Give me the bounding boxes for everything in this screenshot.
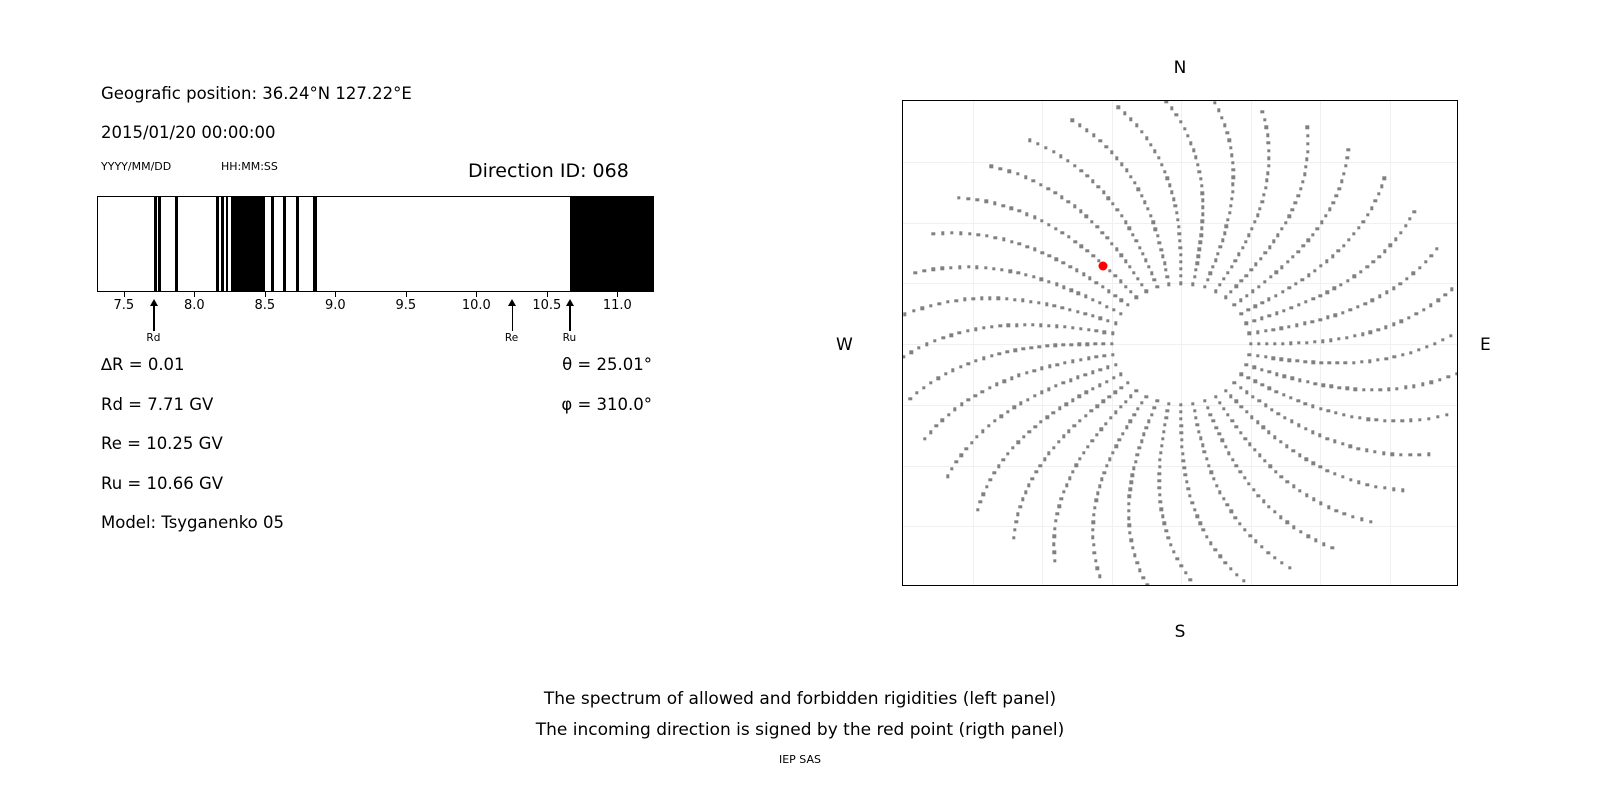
direction-dot: [1250, 416, 1253, 419]
direction-dot: [1262, 193, 1265, 196]
direction-dot: [1018, 242, 1021, 245]
direction-dot: [1248, 353, 1251, 356]
direction-dot: [1190, 501, 1193, 504]
direction-dot: [1262, 500, 1265, 503]
direction-dot: [1245, 363, 1248, 366]
forbidden-band: [271, 197, 274, 291]
direction-dot: [1021, 299, 1024, 302]
direction-dot: [1347, 148, 1350, 151]
direction-dot: [1128, 488, 1131, 491]
direction-dot: [908, 397, 911, 400]
direction-dot: [1160, 507, 1163, 510]
direction-dot: [1344, 361, 1347, 364]
direction-dot: [1303, 173, 1306, 176]
x-tick-label: 11.0: [603, 298, 632, 313]
direction-dot: [1091, 370, 1094, 373]
direction-dot: [1342, 244, 1345, 247]
direction-dot: [1040, 278, 1043, 281]
direction-dot: [975, 266, 978, 269]
x-tick-mark: [1181, 585, 1182, 586]
arrow-up-icon: [150, 299, 158, 306]
direction-dot: [941, 336, 944, 339]
direction-dot: [1375, 418, 1378, 421]
direction-dot: [932, 232, 935, 235]
direction-dot: [1409, 351, 1412, 354]
direction-dot: [1243, 476, 1246, 479]
direction-dot: [1257, 342, 1260, 345]
direction-dot: [1017, 441, 1020, 444]
direction-dot: [1362, 388, 1365, 391]
direction-dot: [1158, 241, 1161, 244]
direction-dot: [1000, 268, 1003, 271]
direction-dot: [1135, 296, 1138, 299]
direction-dot: [955, 299, 958, 302]
direction-dot: [1075, 464, 1078, 467]
direction-dot: [959, 365, 962, 368]
direction-dot: [1369, 520, 1372, 523]
direction-dot: [1150, 272, 1153, 275]
direction-dot: [1099, 368, 1102, 371]
direction-dot: [1276, 233, 1279, 236]
direction-dot: [1167, 402, 1170, 405]
direction-dot: [1274, 470, 1277, 473]
direction-dot: [976, 508, 979, 511]
direction-dot: [1282, 309, 1285, 312]
direction-dot: [988, 386, 991, 389]
direction-dot: [950, 334, 953, 337]
direction-dot: [1214, 259, 1217, 262]
direction-dot: [1337, 249, 1340, 252]
direction-dot: [1047, 387, 1050, 390]
direction-dot: [1071, 399, 1074, 402]
direction-dot: [1197, 255, 1200, 258]
direction-dot: [1201, 199, 1204, 202]
direction-dot: [967, 265, 970, 268]
direction-dot: [1400, 320, 1403, 323]
direction-dot: [1383, 177, 1386, 180]
x-tick-mark: [1320, 585, 1321, 586]
figure-caption: The spectrum of allowed and forbidden ri…: [0, 684, 1600, 746]
y-tick-mark: [902, 466, 903, 467]
direction-dot: [1273, 435, 1276, 438]
direction-dot: [1013, 298, 1016, 301]
direction-dot: [1146, 207, 1149, 210]
direction-dot: [1033, 216, 1036, 219]
direction-dot: [1311, 431, 1314, 434]
direction-dot: [1087, 328, 1090, 331]
direction-dot: [1045, 303, 1048, 306]
direction-dot: [1345, 336, 1348, 339]
direction-dot: [1198, 248, 1201, 251]
direction-dot: [1189, 578, 1192, 581]
direction-dot: [1400, 419, 1403, 422]
direction-dot: [1046, 416, 1049, 419]
direction-dot: [1418, 453, 1421, 456]
direction-dot: [1013, 528, 1016, 531]
direction-dot: [1101, 400, 1104, 403]
direction-dot: [1340, 180, 1343, 183]
direction-dot: [1043, 458, 1046, 461]
direction-dot: [1033, 394, 1036, 397]
direction-dot: [1128, 531, 1131, 534]
direction-dot: [1307, 534, 1310, 537]
direction-dot: [1294, 282, 1297, 285]
direction-dot: [1351, 515, 1354, 518]
direction-dot: [1418, 266, 1421, 269]
direction-dot: [1365, 265, 1368, 268]
direction-dot: [1079, 210, 1082, 213]
direction-dot: [1223, 124, 1226, 127]
direction-dot: [1248, 332, 1251, 335]
direction-dot: [1280, 327, 1283, 330]
direction-dot: [1175, 113, 1178, 116]
direction-dot: [1101, 231, 1104, 234]
direction-dot: [1353, 275, 1356, 278]
direction-dot: [944, 372, 947, 375]
direction-dot: [1183, 466, 1186, 469]
direction-dot: [1286, 480, 1289, 483]
direction-dot: [1305, 458, 1308, 461]
direction-dot: [1441, 338, 1444, 341]
grid-line-horizontal: [903, 162, 1457, 163]
direction-dot: [1180, 564, 1183, 567]
direction-dot: [1107, 290, 1110, 293]
direction-dot: [1106, 366, 1109, 369]
direction-dot: [1374, 485, 1377, 488]
direction-dot: [1145, 395, 1148, 398]
direction-dot: [981, 390, 984, 393]
grid-line-vertical: [973, 101, 974, 585]
direction-dot: [941, 418, 944, 421]
direction-dot: [1267, 164, 1270, 167]
direction-dot: [1163, 262, 1166, 265]
direction-dot: [1213, 101, 1216, 104]
direction-dot: [1005, 297, 1008, 300]
direction-dot: [1303, 322, 1306, 325]
grid-line-horizontal: [903, 223, 1457, 224]
direction-dot: [1158, 465, 1161, 468]
direction-dot: [1350, 415, 1353, 418]
direction-dot: [1125, 426, 1128, 429]
direction-dot: [1253, 220, 1256, 223]
direction-dot: [1054, 191, 1057, 194]
direction-dot: [1277, 412, 1280, 415]
direction-dot: [1168, 184, 1171, 187]
direction-dot: [1214, 426, 1217, 429]
direction-dot: [1256, 214, 1259, 217]
x-tick-mark: [973, 585, 974, 586]
direction-dot: [1360, 360, 1363, 363]
direction-dot: [1179, 260, 1182, 263]
direction-dot: [1164, 416, 1167, 419]
direction-dot: [1067, 200, 1070, 203]
direction-dot: [985, 200, 988, 203]
direction-dot: [1084, 391, 1087, 394]
direction-dot: [1058, 505, 1061, 508]
direction-dot: [989, 478, 992, 481]
direction-dot: [1136, 277, 1139, 280]
direction-dot: [1095, 329, 1098, 332]
direction-dot: [1378, 255, 1381, 258]
direction-dot: [1251, 395, 1254, 398]
direction-dot: [1127, 516, 1130, 519]
direction-dot: [1047, 280, 1050, 283]
forbidden-band: [226, 197, 229, 291]
direction-dot: [1298, 379, 1301, 382]
direction-dot: [1424, 260, 1427, 263]
direction-dot: [1357, 481, 1360, 484]
direction-dot: [1336, 361, 1339, 364]
direction-dot: [1326, 469, 1329, 472]
angle-parameter-row: φ = 310.0°: [561, 395, 652, 414]
direction-dot: [1101, 342, 1104, 345]
direction-dot: [1161, 515, 1164, 518]
direction-dot: [1098, 383, 1101, 386]
direction-dot: [1178, 232, 1181, 235]
direction-dot: [1025, 212, 1028, 215]
direction-dot: [1305, 494, 1308, 497]
direction-dot: [1366, 417, 1369, 420]
direction-dot: [1417, 348, 1420, 351]
direction-dot: [1145, 290, 1148, 293]
direction-dot: [1447, 375, 1450, 378]
direction-dot: [1357, 226, 1360, 229]
direction-dot: [1129, 420, 1132, 423]
direction-dot: [1229, 394, 1232, 397]
direction-dot: [1066, 159, 1069, 162]
direction-dot: [1341, 475, 1344, 478]
direction-dot: [1101, 285, 1104, 288]
direction-dot: [1267, 314, 1270, 317]
direction-dot: [1232, 175, 1235, 178]
direction-dot: [1053, 344, 1056, 347]
direction-dot: [1060, 306, 1063, 309]
direction-dot: [1105, 380, 1108, 383]
direction-dot: [923, 269, 926, 272]
direction-dot: [1269, 275, 1272, 278]
direction-dot: [1233, 381, 1236, 384]
direction-dot: [1225, 225, 1228, 228]
direction-dot: [1107, 395, 1110, 398]
direction-dot: [1234, 285, 1237, 288]
direction-dot: [1124, 400, 1127, 403]
direction-dot: [1254, 263, 1257, 266]
direction-dot: [1176, 557, 1179, 560]
direction-dot: [1235, 400, 1238, 403]
direction-dot: [1311, 320, 1314, 323]
x-tick-mark: [1390, 585, 1391, 586]
direction-dot: [1260, 545, 1263, 548]
direction-dot: [1194, 156, 1197, 159]
direction-dot: [1401, 353, 1404, 356]
direction-dot: [1153, 150, 1156, 153]
direction-map-panel: N S W E −1.00−0.75−0.50−0.250.000.250.50…: [800, 0, 1600, 660]
direction-dot: [972, 297, 975, 300]
direction-dot: [1179, 120, 1182, 123]
direction-dot: [1245, 410, 1248, 413]
direction-dot: [1326, 409, 1329, 412]
direction-dot: [1311, 297, 1314, 300]
direction-dot: [1018, 209, 1021, 212]
direction-dot: [967, 197, 970, 200]
direction-dot: [1312, 361, 1315, 364]
direction-dot: [1149, 214, 1152, 217]
x-tick-mark: [547, 292, 548, 297]
x-tick-label: 7.5: [113, 298, 134, 313]
direction-dot: [1092, 521, 1095, 524]
direction-dot: [1354, 387, 1357, 390]
forbidden-band: [216, 197, 219, 291]
direction-dot: [1281, 290, 1284, 293]
direction-dot: [1266, 134, 1269, 137]
direction-dot: [1086, 249, 1089, 252]
direction-dot: [1181, 452, 1184, 455]
direction-dot: [1370, 206, 1373, 209]
direction-dot: [1445, 413, 1448, 416]
direction-dot: [1053, 304, 1056, 307]
direction-dot: [1343, 512, 1346, 515]
direction-dot: [938, 302, 941, 305]
direction-dot: [1404, 386, 1407, 389]
direction-dot: [1037, 301, 1040, 304]
direction-dot: [1160, 444, 1163, 447]
direction-dot: [1039, 420, 1042, 423]
direction-dot: [1084, 295, 1087, 298]
direction-dot: [1358, 416, 1361, 419]
direction-dot: [1265, 126, 1268, 129]
direction-dot: [1205, 457, 1208, 460]
direction-dot: [1170, 106, 1173, 109]
direction-dot: [1154, 227, 1157, 230]
direction-dot: [1261, 426, 1264, 429]
direction-dot: [1226, 131, 1229, 134]
direction-dot: [1304, 300, 1307, 303]
direction-dot: [1203, 450, 1206, 453]
direction-dot: [1209, 542, 1212, 545]
direction-dot: [1235, 573, 1238, 576]
direction-dot: [1199, 241, 1202, 244]
direction-dot: [1287, 286, 1290, 289]
direction-dot: [1264, 329, 1267, 332]
direction-dot: [1267, 505, 1270, 508]
direction-dot: [1392, 488, 1395, 491]
direction-dot: [1096, 567, 1099, 570]
direction-dot: [1150, 413, 1153, 416]
direction-dot: [1288, 566, 1291, 569]
direction-dot: [1385, 291, 1388, 294]
direction-dot: [1189, 141, 1192, 144]
y-tick-mark: [902, 162, 903, 163]
direction-dot: [1119, 405, 1122, 408]
direction-dot: [1264, 186, 1267, 189]
direction-dot: [1312, 498, 1315, 501]
direction-dot: [1143, 201, 1146, 204]
direction-dot: [1135, 561, 1138, 564]
direction-dot: [1319, 264, 1322, 267]
direction-dot: [1268, 245, 1271, 248]
direction-dot: [1071, 326, 1074, 329]
direction-dot: [1085, 215, 1088, 218]
direction-dot: [1304, 402, 1307, 405]
direction-dot: [1235, 464, 1238, 467]
direction-dot: [1292, 485, 1295, 488]
direction-dot: [1063, 325, 1066, 328]
direction-dot: [1071, 119, 1074, 122]
direction-dot: [1201, 206, 1204, 209]
direction-dot: [1160, 248, 1163, 251]
direction-dot: [1010, 240, 1013, 243]
direction-dot: [1265, 342, 1268, 345]
direction-dot: [1302, 244, 1305, 247]
direction-dot: [1195, 261, 1198, 264]
direction-dot: [1267, 298, 1270, 301]
direction-dot: [1338, 386, 1341, 389]
direction-dot: [1062, 435, 1065, 438]
direction-dot: [1266, 551, 1269, 554]
direction-dot: [1114, 294, 1117, 297]
direction-dot: [1079, 327, 1082, 330]
direction-dot: [1311, 404, 1314, 407]
direction-dot: [1198, 522, 1201, 525]
direction-dot: [1094, 559, 1097, 562]
direction-dot: [1142, 433, 1145, 436]
direction-dot: [1384, 326, 1387, 329]
direction-dot: [1377, 328, 1380, 331]
direction-dot: [1273, 556, 1276, 559]
direction-dot: [1224, 561, 1227, 564]
direction-dot: [1120, 163, 1123, 166]
direction-dot: [1065, 403, 1068, 406]
direction-dot: [1172, 550, 1175, 553]
direction-dot: [1193, 409, 1196, 412]
direction-dot: [1219, 245, 1222, 248]
direction-dot: [1048, 365, 1051, 368]
direction-dot: [1311, 233, 1314, 236]
direction-dot: [1016, 172, 1019, 175]
direction-dot: [1427, 417, 1430, 420]
direction-dot: [1002, 379, 1005, 382]
direction-dot: [1256, 421, 1259, 424]
direction-dot: [1044, 146, 1047, 149]
direction-dot: [1231, 190, 1234, 193]
x-tick-label: 8.5: [254, 298, 275, 313]
direction-dot: [1177, 225, 1180, 228]
direction-dot: [1201, 220, 1204, 223]
direction-dot: [1166, 177, 1169, 180]
direction-dot: [1229, 510, 1232, 513]
direction-dot: [1244, 240, 1247, 243]
x-tick-mark: [335, 292, 336, 297]
direction-dot: [988, 297, 991, 300]
direction-dot: [1019, 402, 1022, 405]
direction-dot: [1252, 488, 1255, 491]
direction-dot: [1128, 265, 1131, 268]
direction-dot: [1226, 271, 1229, 274]
direction-dot: [1194, 585, 1197, 586]
direction-dot: [1120, 299, 1123, 302]
direction-dot: [1091, 528, 1094, 531]
direction-dot: [1031, 477, 1034, 480]
direction-dot: [1129, 290, 1132, 293]
direction-dot: [1290, 420, 1293, 423]
direction-dot: [1247, 376, 1250, 379]
direction-dot: [1096, 404, 1099, 407]
y-tick-mark: [902, 526, 903, 527]
direction-dot: [1145, 426, 1148, 429]
direction-dot: [1346, 387, 1349, 390]
direction-dot: [1037, 345, 1040, 348]
direction-dot: [1007, 169, 1010, 172]
